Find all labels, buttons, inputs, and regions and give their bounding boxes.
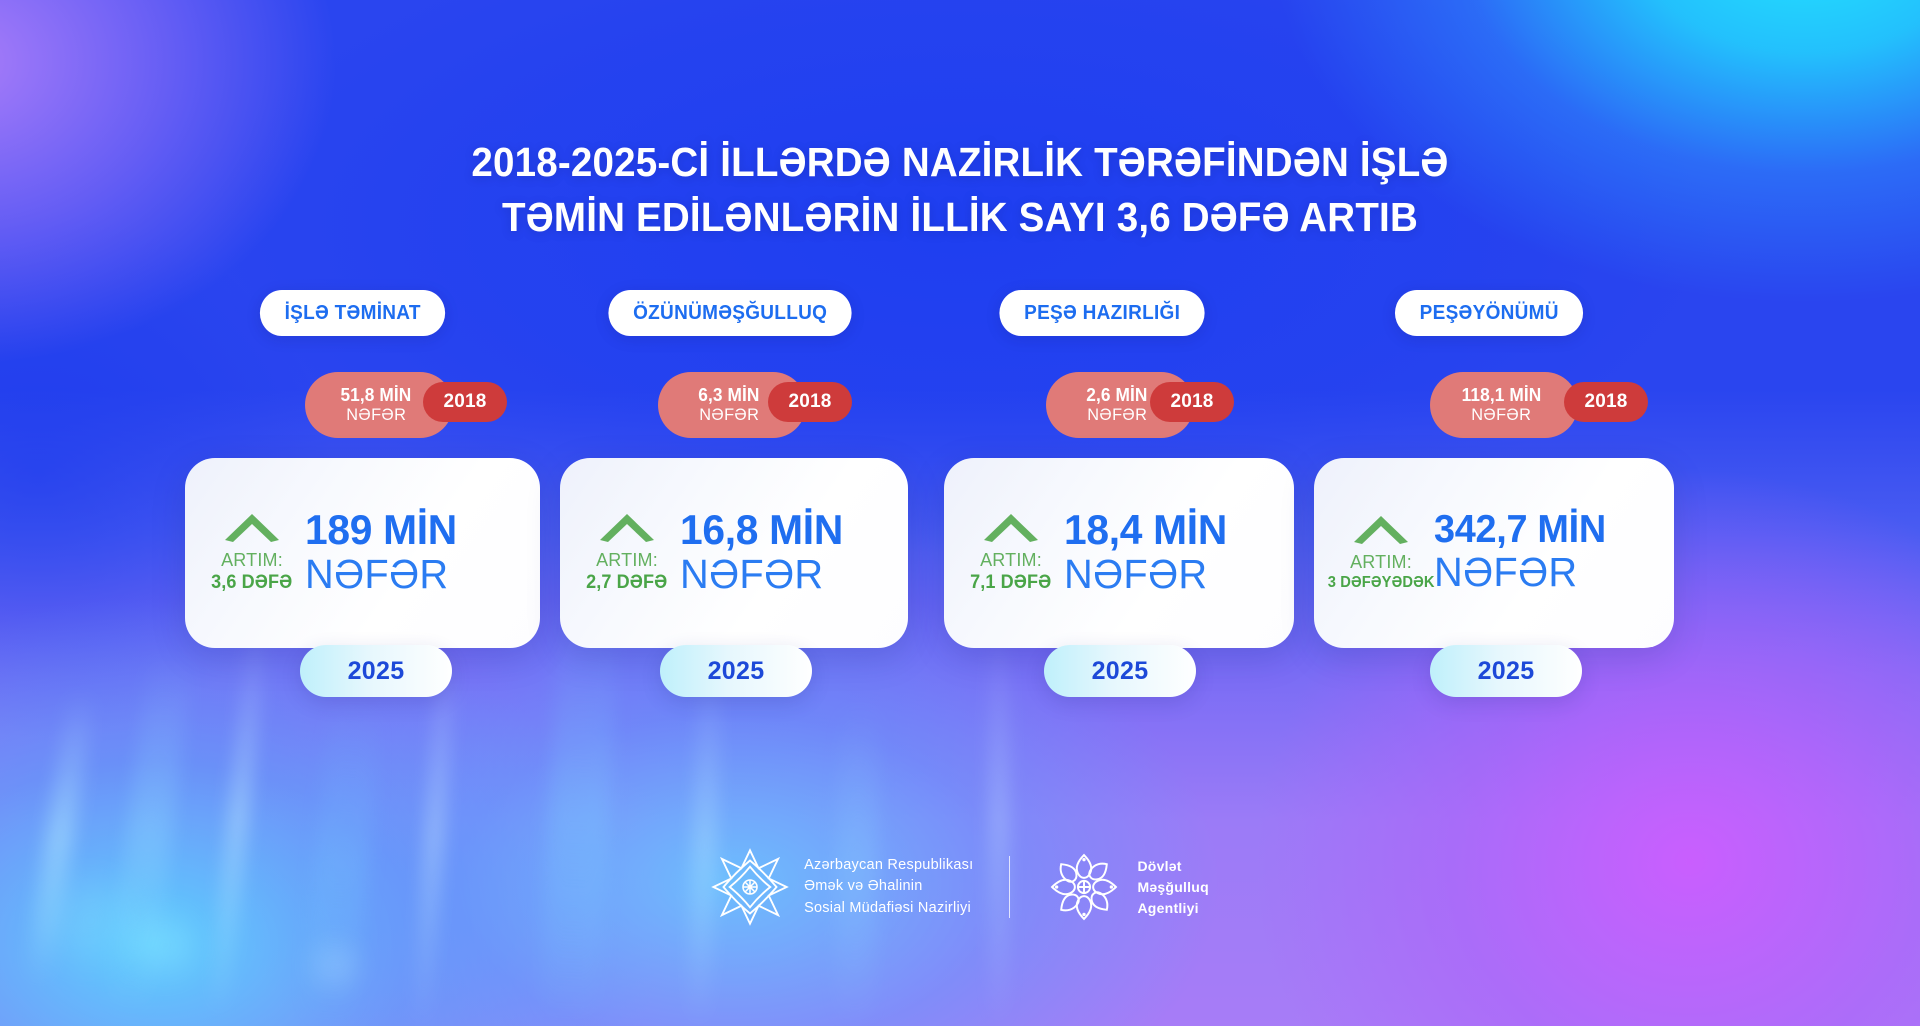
growth-block: ARTIM: 3,6 DƏFƏ [185,512,305,595]
footer-logos: Azərbaycan Respublikası Əmək və Əhalinin… [0,848,1920,926]
eight-pointed-star-logo-icon [711,848,789,926]
agency-logo-block: Dövlət Məşğulluq Agentliyi [1046,849,1208,925]
figure-block: 16,8 MİN NƏFƏR [680,508,908,598]
year-badge-2018: 2018 [768,382,852,422]
year-pill-2025: 2025 [1044,645,1196,697]
unit-2025: NƏFƏR [1434,550,1657,596]
unit-2025: NƏFƏR [1064,552,1277,598]
unit-2018: NƏFƏR [346,405,406,424]
ministry-logo-block: Azərbaycan Respublikası Əmək və Əhalinin… [711,848,973,926]
category-pill[interactable]: ÖZÜNÜMƏŞĞULLUQ [608,290,851,336]
stat-card: ARTIM: 3 DƏFƏYƏDƏK 342,7 MİN NƏFƏR [1314,458,1674,648]
category-pill[interactable]: PEŞƏYÖNÜMÜ [1395,290,1584,336]
growth-block: ARTIM: 7,1 DƏFƏ [944,512,1064,595]
value-2025: 16,8 MİN [680,508,891,552]
figure-block: 189 MİN NƏFƏR [305,508,540,598]
year-pill-2025: 2025 [660,645,812,697]
value-2025: 342,7 MİN [1434,510,1657,551]
category-pill[interactable]: PEŞƏ HAZIRLIĞI [999,290,1204,336]
growth-value: 2,7 DƏFƏ [586,571,667,595]
unit-2018: NƏFƏR [699,405,759,424]
unit-2025: NƏFƏR [305,552,523,598]
agency-line-1: Dövlət [1137,856,1208,877]
arrow-up-icon [223,512,281,544]
ministry-logo-text: Azərbaycan Respublikası Əmək və Əhalinin… [804,855,973,918]
agency-line-2: Məşğulluq [1137,877,1208,898]
ministry-line-2: Əmək və Əhalinin [804,876,973,897]
growth-value: 7,1 DƏFƏ [970,571,1051,595]
stat-card: ARTIM: 2,7 DƏFƏ 16,8 MİN NƏFƏR [560,458,908,648]
agency-line-3: Agentliyi [1137,898,1208,919]
rosette-swirl-logo-icon [1046,849,1122,925]
arrow-up-icon [598,512,656,544]
figure-block: 18,4 MİN NƏFƏR [1064,508,1294,598]
unit-2018: NƏFƏR [1471,405,1531,424]
unit-2018: NƏFƏR [1087,405,1147,424]
year-badge-2018: 2018 [1150,382,1234,422]
ministry-line-3: Sosial Müdafiəsi Nazirliyi [804,898,973,919]
growth-label: ARTIM: [980,551,1042,571]
value-2018-oval: 118,1 MİN NƏFƏR [1430,372,1578,438]
stat-card: ARTIM: 3,6 DƏFƏ 189 MİN NƏFƏR [185,458,540,648]
value-2018: 118,1 MİN [1461,386,1541,404]
year-pill-2025: 2025 [300,645,452,697]
arrow-up-icon [982,512,1040,544]
agency-logo-text: Dövlət Məşğulluq Agentliyi [1137,856,1208,919]
growth-block: ARTIM: 3 DƏFƏYƏDƏK [1314,514,1434,592]
value-2025: 189 MİN [305,508,523,552]
figure-block: 342,7 MİN NƏFƏR [1434,510,1674,596]
year-pill-2025: 2025 [1430,645,1582,697]
value-2018: 6,3 MİN [698,386,759,404]
growth-label: ARTIM: [221,551,283,571]
unit-2025: NƏFƏR [680,552,891,598]
ministry-line-1: Azərbaycan Respublikası [804,855,973,876]
growth-label: ARTIM: [1350,553,1412,573]
growth-value: 3,6 DƏFƏ [211,571,292,595]
growth-label: ARTIM: [596,551,658,571]
stat-card: ARTIM: 7,1 DƏFƏ 18,4 MİN NƏFƏR [944,458,1294,648]
arrow-up-icon [1352,514,1410,546]
growth-block: ARTIM: 2,7 DƏFƏ [560,512,680,595]
growth-value: 3 DƏFƏYƏDƏK [1328,573,1435,592]
value-2018: 2,6 MİN [1086,386,1147,404]
year-badge-2018: 2018 [1564,382,1648,422]
value-2018: 51,8 MİN [341,386,412,404]
category-pill[interactable]: İŞLƏ TƏMİNAT [260,290,446,336]
footer-divider [1009,856,1010,918]
year-badge-2018: 2018 [423,382,507,422]
value-2025: 18,4 MİN [1064,508,1277,552]
